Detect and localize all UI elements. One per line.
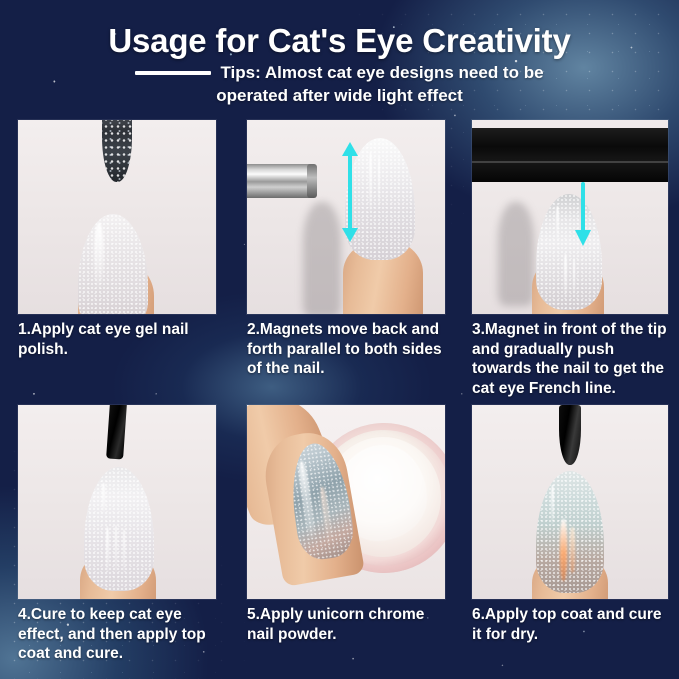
down-arrow-icon bbox=[572, 182, 594, 246]
nail bbox=[84, 467, 154, 591]
nail-shine bbox=[551, 485, 554, 525]
nail-shine bbox=[123, 529, 125, 573]
nail-shine bbox=[369, 152, 372, 212]
nail-shine bbox=[556, 206, 559, 240]
double-headed-vertical-arrow-icon bbox=[339, 142, 361, 242]
nail-glitter bbox=[84, 467, 154, 591]
photo-magnet-parallel bbox=[247, 120, 445, 314]
nail-shine bbox=[115, 525, 117, 573]
photo-apply-gel-polish bbox=[18, 120, 216, 314]
nail-shine bbox=[564, 254, 567, 298]
nail-shadow bbox=[303, 202, 341, 314]
step-caption-1: 1.Apply cat eye gel nail polish. bbox=[18, 320, 223, 359]
step-card-2: 2.Magnets move back and forth parallel t… bbox=[247, 120, 452, 379]
nail bbox=[536, 471, 604, 593]
tips-text-secondary: operated after wide light effect bbox=[216, 84, 463, 108]
tips-text-primary: Tips: Almost cat eye designs need to be bbox=[220, 62, 543, 84]
chrome-highlight bbox=[570, 527, 575, 573]
nail-shine bbox=[102, 483, 105, 513]
photo-topcoat-cure bbox=[472, 405, 668, 599]
nail-shine bbox=[94, 222, 104, 292]
dash-icon bbox=[135, 71, 211, 75]
nail-shine bbox=[378, 156, 380, 208]
magnet-pen-icon bbox=[247, 164, 317, 198]
step-caption-6: 6.Apply top coat and cure it for dry. bbox=[472, 605, 672, 644]
step-caption-3: 3.Magnet in front of the tip and gradual… bbox=[472, 320, 672, 398]
nail bbox=[78, 214, 148, 314]
nail-shine bbox=[573, 258, 575, 298]
step-card-1: 1.Apply cat eye gel nail polish. bbox=[18, 120, 223, 359]
step-card-5: 5.Apply unicorn chrome nail powder. bbox=[247, 405, 452, 644]
photo-cure-and-topcoat bbox=[18, 405, 216, 599]
chrome-highlight bbox=[560, 519, 567, 581]
step-card-3: 3.Magnet in front of the tip and gradual… bbox=[472, 120, 672, 398]
tips-block: Tips: Almost cat eye designs need to be … bbox=[0, 62, 679, 108]
nail-shadow bbox=[498, 202, 534, 306]
magnet-bar-icon bbox=[472, 128, 668, 182]
step-caption-5: 5.Apply unicorn chrome nail powder. bbox=[247, 605, 452, 644]
nail-shine bbox=[106, 527, 109, 573]
step-card-6: 6.Apply top coat and cure it for dry. bbox=[472, 405, 672, 644]
nail-glitter bbox=[78, 214, 148, 314]
photo-top-strip bbox=[472, 120, 668, 128]
tips-line-1: Tips: Almost cat eye designs need to be bbox=[135, 62, 543, 84]
photo-magnet-french-line bbox=[472, 120, 668, 314]
step-caption-2: 2.Magnets move back and forth parallel t… bbox=[247, 320, 452, 379]
page-title: Usage for Cat's Eye Creativity bbox=[0, 22, 679, 60]
step-caption-4: 4.Cure to keep cat eye effect, and then … bbox=[18, 605, 223, 664]
photo-chrome-powder bbox=[247, 405, 445, 599]
step-card-4: 4.Cure to keep cat eye effect, and then … bbox=[18, 405, 223, 664]
